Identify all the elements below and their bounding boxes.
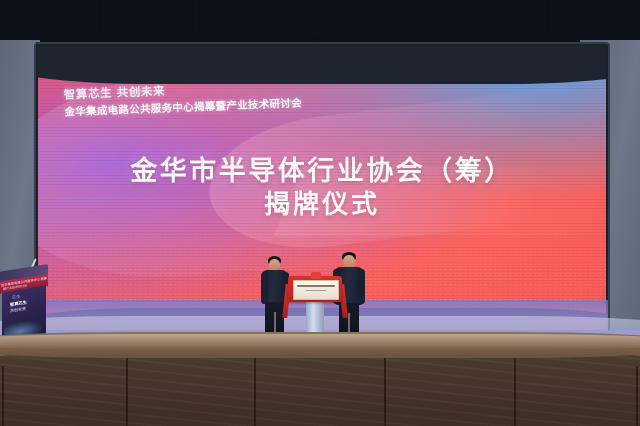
unveiling-plaque [288,276,342,304]
plaque-red-drape [288,276,342,302]
stage-panel-seam [2,366,4,426]
plaque-engraved-text [297,285,335,287]
arm-left [261,272,268,304]
ceiling-panel-seam [96,0,97,34]
speaker-podium: 金华集成电路公共服务中心揭幕 暨产业技术研讨会 芯生 智算芯生 共创未来 [0,268,50,340]
podium-body: 芯生 智算芯生 共创未来 [2,286,46,341]
stage-panel-seam [514,346,516,426]
stage-panel-seam [126,346,128,426]
screen-headline-line-2: 揭牌仪式 [38,187,606,225]
arm-right [357,269,365,304]
ceiling-panel-seam [196,0,197,34]
screen-curve-top-mask [38,46,606,84]
ceiling-panel-seam [544,0,545,34]
ceiling-panel-seam [446,0,447,34]
podium-body-line-2: 共创未来 [10,306,26,315]
plaque-sub-text [306,290,326,291]
screen-headline-line-1: 金华市半导体行业协会（筹） [38,156,606,187]
stage-front-gloss [0,334,640,350]
ribbon-knot [311,272,321,279]
stage-photo: 智算芯生 共创未来 金华集成电路公共服务中心揭幕暨产业技术研讨会 金华市半导体行… [0,0,640,426]
stage-panel-seam [636,366,638,426]
screen-headline-block: 金华市半导体行业协会（筹） 揭牌仪式 [38,156,606,225]
plaque-board [293,280,339,300]
